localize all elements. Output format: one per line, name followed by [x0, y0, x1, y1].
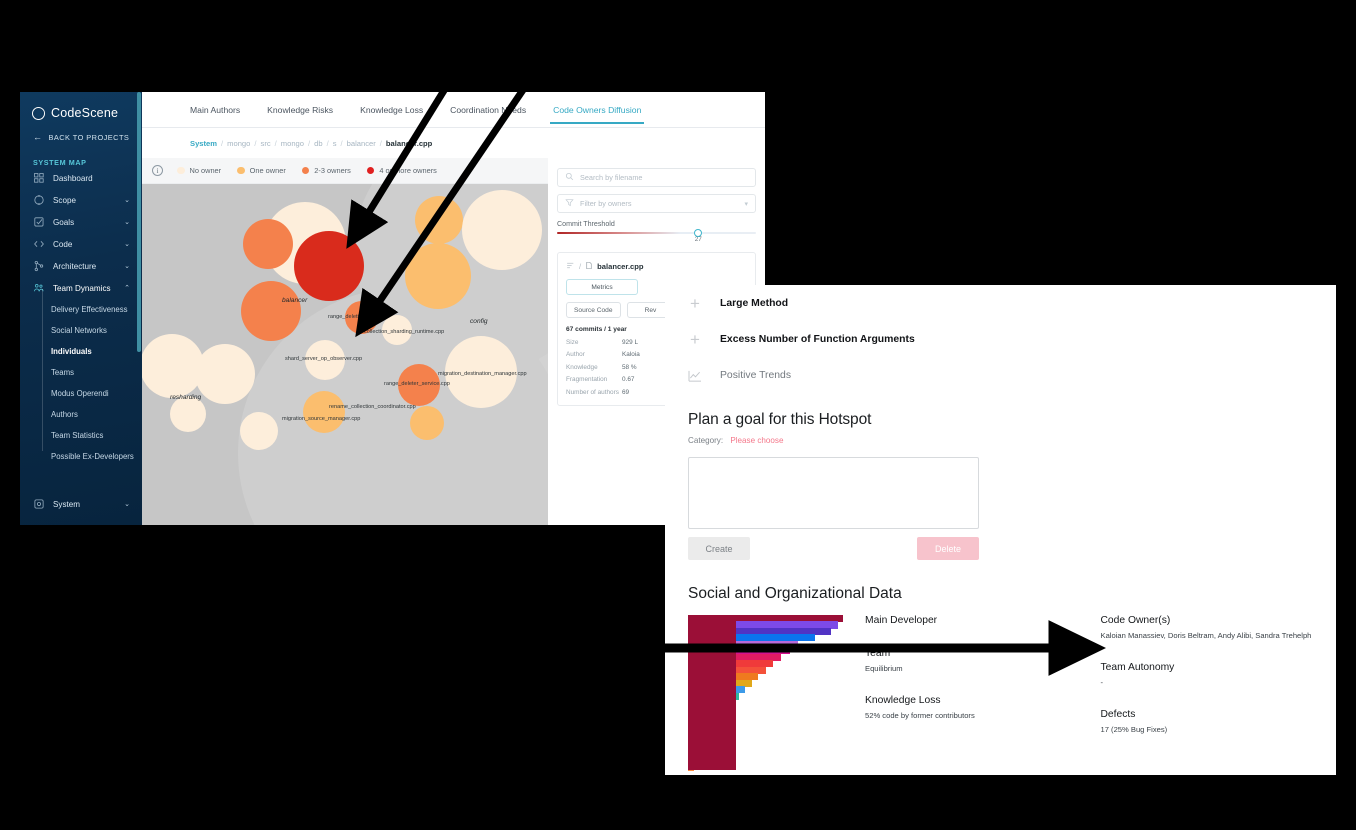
bubble-file[interactable] — [142, 334, 204, 398]
breadcrumb-separator: / — [380, 139, 382, 148]
sidebar-item-goals[interactable]: Goals⌄ — [20, 211, 142, 233]
filter-placeholder: Filter by owners — [580, 199, 632, 208]
sidebar-item-system-label: System — [53, 500, 80, 509]
social-body: Main DeveloperTeamEquilibriumKnowledge L… — [688, 615, 1326, 770]
chevron-down-icon: ⌄ — [124, 196, 130, 204]
bubble-group-label: config — [470, 318, 488, 325]
sidebar-item-system[interactable]: System ⌄ — [20, 493, 142, 515]
knowledge-distribution-chart[interactable] — [688, 615, 843, 770]
bubble-rename-collection-coordinator[interactable] — [303, 391, 345, 433]
sidebar-subitem-team-statistics[interactable]: Team Statistics — [20, 425, 142, 446]
category-label: Category: — [688, 436, 723, 445]
create-button[interactable]: Create — [688, 537, 750, 560]
scope-icon — [33, 194, 45, 206]
commit-threshold-knob[interactable] — [694, 229, 702, 237]
sidebar-item-scope[interactable]: Scope⌄ — [20, 189, 142, 211]
commit-threshold-value: 27 — [641, 236, 756, 243]
legend-item: No owner — [177, 166, 221, 175]
bubble-file[interactable] — [415, 196, 463, 244]
tab-code-owners-diffusion[interactable]: Code Owners Diffusion — [553, 92, 641, 128]
legend-color-dot — [237, 167, 245, 175]
sidebar-item-label: Dashboard — [53, 174, 93, 183]
legend-color-dot — [302, 167, 310, 175]
issue-label: Excess Number of Function Arguments — [720, 334, 915, 345]
code-owners-bubble-chart[interactable]: balancerconfigreshardingrange_deletion_u… — [142, 184, 548, 525]
commit-threshold-slider[interactable] — [557, 232, 756, 234]
social-field: Team Autonomy- — [1101, 662, 1327, 687]
legend-item: One owner — [237, 166, 286, 175]
metric-value: 69 — [622, 389, 629, 396]
sidebar-item-dashboard[interactable]: Dashboard — [20, 167, 142, 189]
legend-color-dot — [177, 167, 185, 175]
sidebar-item-architecture[interactable]: Architecture⌄ — [20, 255, 142, 277]
sidebar-item-label: Goals — [53, 218, 74, 227]
goal-description-textarea[interactable] — [688, 457, 979, 529]
breadcrumb-separator: / — [341, 139, 343, 148]
metric-key: Size — [566, 339, 622, 346]
sidebar-item-label: Architecture — [53, 262, 96, 271]
social-field-value: 17 (25% Bug Fixes) — [1101, 725, 1327, 734]
breadcrumb-separator: / — [221, 139, 223, 148]
metric-value: 58 % — [622, 364, 637, 371]
social-field-title: Main Developer — [865, 615, 1091, 626]
sidebar: CodeScene ← BACK TO PROJECTS SYSTEM MAP … — [20, 92, 142, 525]
legend-label: One owner — [250, 166, 286, 175]
back-to-projects-label: BACK TO PROJECTS — [48, 133, 129, 142]
chevron-up-icon: ⌃ — [124, 284, 130, 292]
social-field-column-left: Main DeveloperTeamEquilibriumKnowledge L… — [865, 615, 1091, 770]
file-icon — [585, 261, 593, 272]
search-icon — [565, 172, 574, 183]
chevron-down-icon: ⌄ — [124, 262, 130, 270]
social-field-title: Knowledge Loss — [865, 695, 1091, 706]
issue-row[interactable]: +Excess Number of Function Arguments — [665, 321, 1336, 357]
breadcrumb-item[interactable]: src — [261, 139, 271, 148]
grid-icon — [33, 172, 45, 184]
bubble-file-label: rename_collection_coordinator.cpp — [329, 404, 416, 410]
social-field-value: - — [1101, 678, 1327, 687]
search-placeholder: Search by filename — [580, 173, 642, 182]
sidebar-item-label: Code — [53, 240, 72, 249]
social-field-title: Team — [865, 648, 1091, 659]
sidebar-subitem-label: Possible Ex-Developers — [51, 452, 134, 461]
bubble-file-label: collection_sharding_runtime.cpp — [364, 329, 444, 335]
bubble-file[interactable] — [170, 396, 206, 432]
screenshot-stage: CodeScene ← BACK TO PROJECTS SYSTEM MAP … — [0, 0, 1356, 830]
metric-key: Author — [566, 351, 622, 358]
category-select[interactable]: Please choose — [730, 436, 783, 445]
social-field-value: 52% code by former contributors — [865, 711, 1091, 720]
breadcrumb-item[interactable]: s — [333, 139, 337, 148]
sidebar-subitem-social-networks[interactable]: Social Networks — [20, 320, 142, 341]
bubble-file[interactable] — [195, 344, 255, 404]
chart-main-contributor-block — [688, 615, 736, 770]
tab-label: Knowledge Loss — [360, 105, 423, 115]
social-field: Main Developer — [865, 615, 1091, 626]
legend-label: 4 or more owners — [379, 166, 437, 175]
metric-key: Fragmentation — [566, 376, 622, 383]
bubble-file[interactable] — [462, 190, 542, 270]
social-field: Knowledge Loss52% code by former contrib… — [865, 695, 1091, 720]
sidebar-subitem-label: Social Networks — [51, 326, 107, 335]
brand-logo[interactable]: CodeScene — [20, 92, 142, 120]
sidebar-item-label: Team Dynamics — [53, 284, 111, 293]
breadcrumb-item[interactable]: System — [190, 139, 217, 148]
tab-bar: Main AuthorsKnowledge RisksKnowledge Los… — [142, 92, 765, 128]
sidebar-subitem-possible-ex-developers[interactable]: Possible Ex-Developers — [20, 446, 142, 467]
legend-items: No ownerOne owner2-3 owners4 or more own… — [177, 166, 453, 175]
code-icon — [33, 238, 45, 250]
plus-icon[interactable]: + — [688, 331, 702, 348]
chevron-down-icon: ⌄ — [124, 240, 130, 248]
breadcrumb-item[interactable]: balancer — [347, 139, 376, 148]
breadcrumb-item[interactable]: balancer.cpp — [386, 139, 432, 148]
social-field: TeamEquilibrium — [865, 648, 1091, 673]
bubble-migration-source-manager[interactable] — [240, 412, 278, 450]
list-icon[interactable] — [566, 261, 575, 272]
breadcrumb-separator: / — [579, 262, 581, 271]
sidebar-subitem-label: Individuals — [51, 347, 92, 356]
issue-label: Positive Trends — [720, 370, 791, 381]
delete-button[interactable]: Delete — [917, 537, 979, 560]
commit-threshold-label: Commit Threshold — [557, 220, 756, 228]
chevron-down-icon: ⌄ — [124, 218, 130, 226]
sidebar-subitem-delivery-effectiveness[interactable]: Delivery Effectiveness — [20, 299, 142, 320]
sidebar-item-label: Scope — [53, 196, 76, 205]
team-icon — [33, 282, 45, 294]
bubble-file-label: range_deleter_service.cpp — [384, 381, 450, 387]
tab-knowledge-risks[interactable]: Knowledge Risks — [267, 92, 333, 128]
social-field-title: Code Owner(s) — [1101, 615, 1327, 626]
bubble-file[interactable] — [405, 243, 471, 309]
legend-item: 2-3 owners — [302, 166, 351, 175]
filter-by-owners-select[interactable]: Filter by owners ▾ — [557, 194, 756, 213]
breadcrumb-item[interactable]: db — [314, 139, 322, 148]
metric-value: 929 L — [622, 339, 638, 346]
issue-row[interactable]: +Large Method — [665, 285, 1336, 321]
hotspot-detail-overlay: +Large Method+Excess Number of Function … — [665, 285, 1336, 775]
breadcrumb-separator: / — [254, 139, 256, 148]
tab-metrics[interactable]: Metrics — [566, 279, 638, 295]
visualization-column: i No ownerOne owner2-3 owners4 or more o… — [142, 158, 548, 525]
breadcrumb-item[interactable]: mongo — [227, 139, 250, 148]
social-field-value: Kaloian Manassiev, Doris Beltram, Andy A… — [1101, 631, 1327, 640]
arrow-left-icon: ← — [33, 133, 42, 142]
social-field-value: Equilibrium — [865, 664, 1091, 673]
tab-knowledge-loss[interactable]: Knowledge Loss — [360, 92, 423, 128]
metric-key: Knowledge — [566, 364, 622, 371]
social-title: Social and Organizational Data — [688, 585, 1326, 603]
bubble-file-label: range_deletion_util.cpp — [328, 314, 386, 320]
bubble-group-label: resharding — [170, 394, 201, 401]
social-organizational-section: Social and Organizational Data Main Deve… — [688, 585, 1326, 770]
tab-label: Code Owners Diffusion — [553, 105, 641, 115]
sidebar-subitem-label: Delivery Effectiveness — [51, 305, 128, 314]
legend-label: 2-3 owners — [314, 166, 351, 175]
system-icon — [33, 498, 45, 510]
sidebar-subitem-individuals[interactable]: Individuals — [20, 341, 142, 362]
social-field: Code Owner(s)Kaloian Manassiev, Doris Be… — [1101, 615, 1327, 640]
social-field-title: Team Autonomy — [1101, 662, 1327, 673]
plus-icon[interactable]: + — [688, 295, 702, 312]
owners-legend: i No ownerOne owner2-3 owners4 or more o… — [142, 158, 548, 184]
architecture-icon — [33, 260, 45, 272]
codescene-app-window: CodeScene ← BACK TO PROJECTS SYSTEM MAP … — [20, 92, 765, 525]
social-field-title: Defects — [1101, 709, 1327, 720]
tab-label: Main Authors — [190, 105, 240, 115]
sidebar-subitem-label: Authors — [51, 410, 78, 419]
sidebar-nav-list: DashboardScope⌄Goals⌄Code⌄Architecture⌄T… — [20, 167, 142, 299]
source-code-button[interactable]: Source Code — [566, 302, 621, 318]
breadcrumb-separator: / — [308, 139, 310, 148]
sidebar-item-team-dynamics[interactable]: Team Dynamics⌃ — [20, 277, 142, 299]
breadcrumb-item[interactable]: mongo — [281, 139, 304, 148]
social-field-grid: Main DeveloperTeamEquilibriumKnowledge L… — [865, 615, 1326, 770]
category-row: Category: Please choose — [688, 436, 1336, 445]
bubble-file[interactable] — [243, 219, 293, 269]
search-input[interactable]: Search by filename — [557, 168, 756, 187]
chevron-down-icon: ⌄ — [124, 500, 130, 508]
issue-row[interactable]: Positive Trends — [665, 357, 1336, 393]
chevron-down-icon: ▾ — [744, 200, 748, 208]
social-field: Defects17 (25% Bug Fixes) — [1101, 709, 1327, 734]
sidebar-subitem-label: Team Statistics — [51, 431, 103, 440]
social-field-column-right: Code Owner(s)Kaloian Manassiev, Doris Be… — [1101, 615, 1327, 770]
sidebar-subitem-modus-operendi[interactable]: Modus Operendi — [20, 383, 142, 404]
info-icon[interactable]: i — [152, 165, 163, 176]
sidebar-subitem-label: Teams — [51, 368, 74, 377]
trend-chart-icon — [688, 369, 702, 381]
plan-goal-title: Plan a goal for this Hotspot — [688, 411, 1336, 429]
sidebar-subitem-teams[interactable]: Teams — [20, 362, 142, 383]
bubble-file-label: migration_destination_manager.cpp — [438, 371, 527, 377]
sidebar-subitem-authors[interactable]: Authors — [20, 404, 142, 425]
legend-item: 4 or more owners — [367, 166, 437, 175]
bubble-file-label: migration_source_manager.cpp — [282, 416, 360, 422]
metric-value: 0.67 — [622, 376, 634, 383]
file-card-header: / balancer.cpp — [566, 261, 747, 272]
breadcrumb: System/mongo/src/mongo/db/s/balancer/bal… — [142, 128, 765, 158]
tab-main-authors[interactable]: Main Authors — [190, 92, 240, 128]
sidebar-sub-list: Delivery EffectivenessSocial NetworksInd… — [20, 299, 142, 467]
goal-button-row: Create Delete — [688, 537, 979, 560]
issue-label: Large Method — [720, 298, 788, 309]
bubble-file-balancer-cpp[interactable] — [294, 231, 364, 301]
brand-name: CodeScene — [51, 106, 118, 120]
metric-key: Number of authors — [566, 389, 622, 396]
tab-coordination-needs[interactable]: Coordination Needs — [450, 92, 526, 128]
codescene-logo-icon — [32, 107, 45, 120]
filter-icon — [565, 198, 574, 209]
sidebar-section-title: SYSTEM MAP — [20, 142, 142, 167]
breadcrumb-separator: / — [327, 139, 329, 148]
legend-label: No owner — [190, 166, 222, 175]
bubble-group-label: balancer — [282, 297, 307, 304]
goals-icon — [33, 216, 45, 228]
sidebar-item-code[interactable]: Code⌄ — [20, 233, 142, 255]
legend-color-dot — [367, 167, 375, 175]
sidebar-subitem-label: Modus Operendi — [51, 389, 109, 398]
file-name: balancer.cpp — [597, 262, 643, 271]
code-issue-list: +Large Method+Excess Number of Function … — [665, 285, 1336, 393]
back-to-projects-button[interactable]: ← BACK TO PROJECTS — [20, 120, 142, 142]
breadcrumb-separator: / — [275, 139, 277, 148]
bubble-file[interactable] — [410, 406, 444, 440]
bubble-file[interactable] — [241, 281, 301, 341]
tab-label: Coordination Needs — [450, 105, 526, 115]
bubble-file-label: shard_server_op_observer.cpp — [285, 356, 362, 362]
metric-value: Kaloia — [622, 351, 640, 358]
tab-label: Knowledge Risks — [267, 105, 333, 115]
